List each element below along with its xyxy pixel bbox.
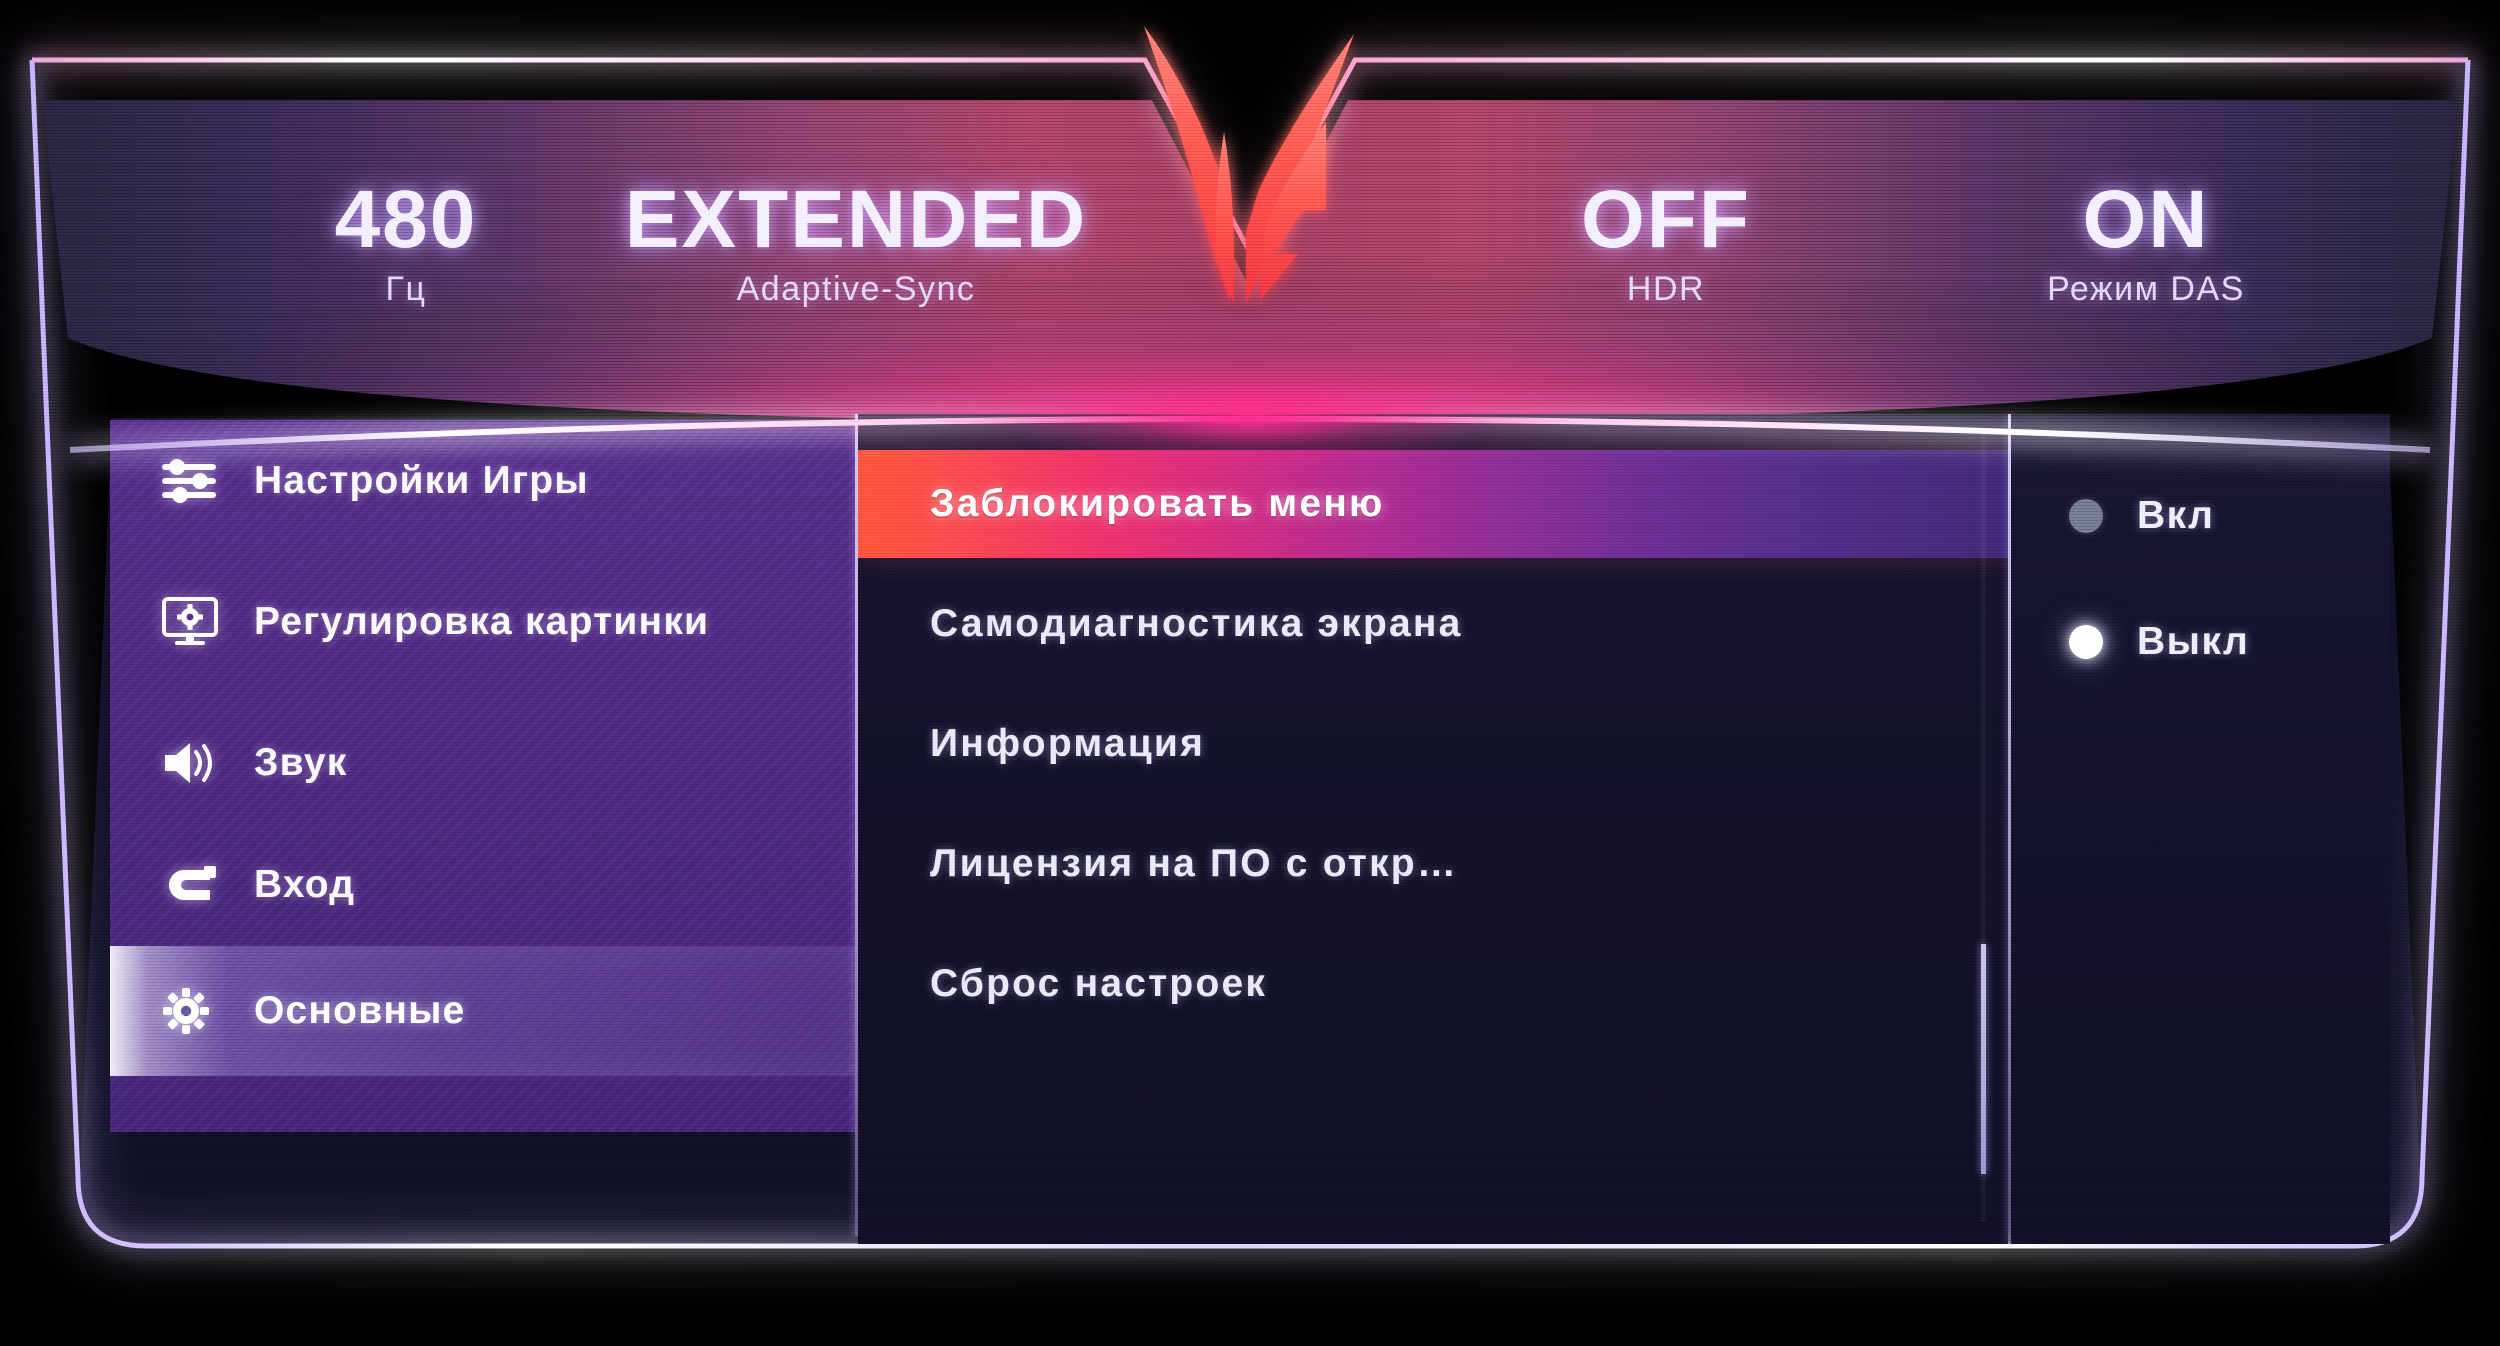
sidebar-item-general[interactable]: Основные xyxy=(110,946,855,1076)
sidebar-item-picture-adjust[interactable]: Регулировка картинки xyxy=(110,542,855,702)
submenu-item-label: Сброс настроек xyxy=(930,962,1267,1006)
status-label: Гц xyxy=(256,270,556,309)
option-label: Выкл xyxy=(2137,620,2249,664)
submenu-item-label: Лицензия на ПО с откр… xyxy=(930,842,1458,886)
status-value: EXTENDED xyxy=(576,180,1136,260)
status-value: ON xyxy=(1906,180,2386,260)
status-label: HDR xyxy=(1436,270,1896,309)
option-on[interactable]: Вкл xyxy=(2011,468,2390,564)
input-plug-icon xyxy=(162,864,254,906)
submenu-item-label: Заблокировать меню xyxy=(930,482,1385,526)
status-refresh-rate: 480 Гц xyxy=(256,180,556,309)
submenu-item-open-source-license[interactable]: Лицензия на ПО с откр… xyxy=(858,810,2008,918)
lg-ultragear-logo-icon xyxy=(1126,18,1374,308)
submenu-item-self-diagnosis[interactable]: Самодиагностика экрана xyxy=(858,570,2008,678)
status-label: Режим DAS xyxy=(1906,270,2386,309)
submenu-scrollbar-thumb[interactable] xyxy=(1981,944,1986,1174)
sidebar-item-label: Основные xyxy=(254,989,466,1033)
sidebar-item-game-settings[interactable]: Настройки Игры xyxy=(110,420,855,542)
status-value: 480 xyxy=(256,180,556,260)
option-off[interactable]: Выкл xyxy=(2011,594,2390,690)
submenu-panel: Заблокировать меню Самодиагностика экран… xyxy=(858,414,2008,1244)
sidebar-item-label: Регулировка картинки xyxy=(254,600,709,644)
sidebar: Настройки Игры xyxy=(110,420,855,1132)
sidebar-item-input[interactable]: Вход xyxy=(110,824,855,946)
sliders-icon xyxy=(162,459,254,503)
sidebar-item-label: Звук xyxy=(254,741,347,785)
status-hdr: OFF HDR xyxy=(1436,180,1896,309)
speaker-icon xyxy=(162,741,254,785)
sidebar-item-label: Вход xyxy=(254,863,355,907)
submenu-item-label: Информация xyxy=(930,722,1205,766)
osd-screenshot: 480 Гц EXTENDED Adaptive-Sync OFF HDR ON… xyxy=(0,0,2500,1346)
submenu-item-label: Самодиагностика экрана xyxy=(930,602,1463,646)
options-panel: Вкл Выкл xyxy=(2011,414,2390,1244)
submenu-item-lock-menu[interactable]: Заблокировать меню xyxy=(858,450,2008,558)
sidebar-item-label: Настройки Игры xyxy=(254,459,589,503)
gear-icon xyxy=(162,987,254,1035)
monitor-gear-icon xyxy=(162,597,254,647)
status-das-mode: ON Режим DAS xyxy=(1906,180,2386,309)
status-label: Adaptive-Sync xyxy=(576,270,1136,309)
submenu-item-information[interactable]: Информация xyxy=(858,690,2008,798)
status-adaptive-sync: EXTENDED Adaptive-Sync xyxy=(576,180,1136,309)
option-label: Вкл xyxy=(2137,494,2214,538)
sidebar-item-sound[interactable]: Звук xyxy=(110,702,855,824)
radio-unselected-icon xyxy=(2069,499,2103,533)
osd-menu-body: Настройки Игры xyxy=(110,420,2390,1250)
radio-selected-icon xyxy=(2069,625,2103,659)
status-value: OFF xyxy=(1436,180,1896,260)
submenu-item-reset[interactable]: Сброс настроек xyxy=(858,930,2008,1038)
